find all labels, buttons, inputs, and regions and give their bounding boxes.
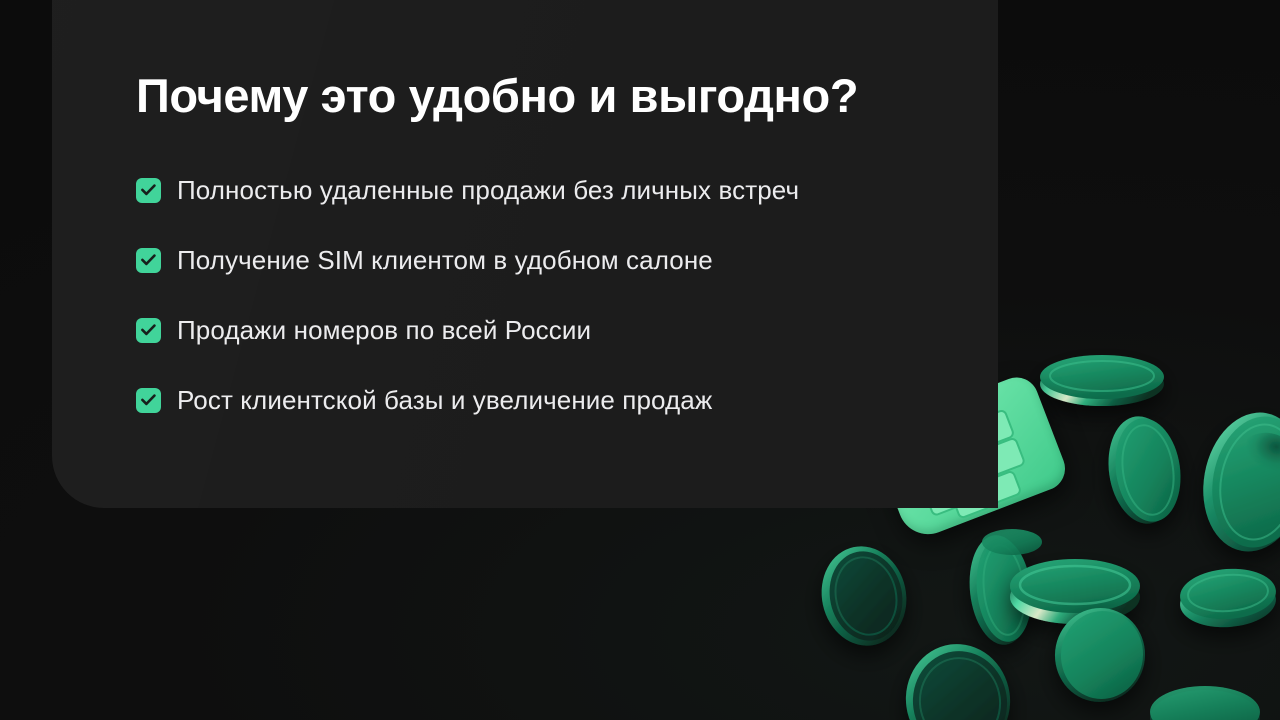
- list-item-label: Получение SIM клиентом в удобном салоне: [177, 246, 713, 275]
- list-item: Полностью удаленные продажи без личных в…: [136, 168, 966, 212]
- list-item: Рост клиентской базы и увеличение продаж: [136, 378, 966, 422]
- benefits-list: Полностью удаленные продажи без личных в…: [136, 168, 966, 448]
- list-item: Получение SIM клиентом в удобном салоне: [136, 238, 966, 282]
- check-square-icon: [136, 248, 161, 273]
- slide-canvas: Почему это удобно и выгодно? Полностью у…: [0, 0, 1280, 720]
- list-item-label: Продажи номеров по всей России: [177, 316, 591, 345]
- page-title: Почему это удобно и выгодно?: [136, 70, 956, 123]
- list-item-label: Полностью удаленные продажи без личных в…: [177, 176, 799, 205]
- check-square-icon: [136, 318, 161, 343]
- list-item: Продажи номеров по всей России: [136, 308, 966, 352]
- check-square-icon: [136, 178, 161, 203]
- check-square-icon: [136, 388, 161, 413]
- list-item-label: Рост клиентской базы и увеличение продаж: [177, 386, 712, 415]
